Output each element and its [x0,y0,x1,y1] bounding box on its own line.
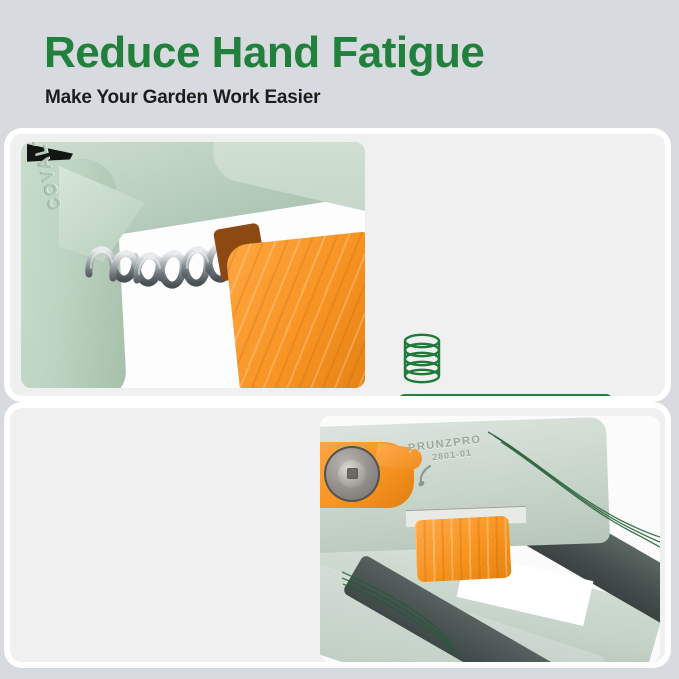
page-subtitle: Make Your Garden Work Easier [45,87,320,109]
feature-spring: High Strength Spring Excellent Rebound P… [398,332,648,396]
feature-badge-spring: High Strength Spring [398,394,613,396]
pruner-orange-grip [225,231,365,388]
feature-card-handle: Ergonomic Handle Design Comfortable and … [10,408,665,662]
photo-spring-closeup: COVALT [21,142,365,388]
photo-handle-closeup: PRUNZPRO 2801-01 [320,416,660,662]
header: Reduce Hand Fatigue Make Your Garden Wor… [0,0,679,128]
feature-card-spring: COVALT [10,134,665,396]
coil-spring-icon [398,332,446,384]
pivot-bolt-screw-slot [347,468,358,479]
page-title: Reduce Hand Fatigue [44,28,484,78]
safety-latch-ribs [414,516,511,583]
safety-latch [414,516,511,583]
leaf-mark-icon [416,464,438,488]
orange-grip-ribs [225,231,365,388]
